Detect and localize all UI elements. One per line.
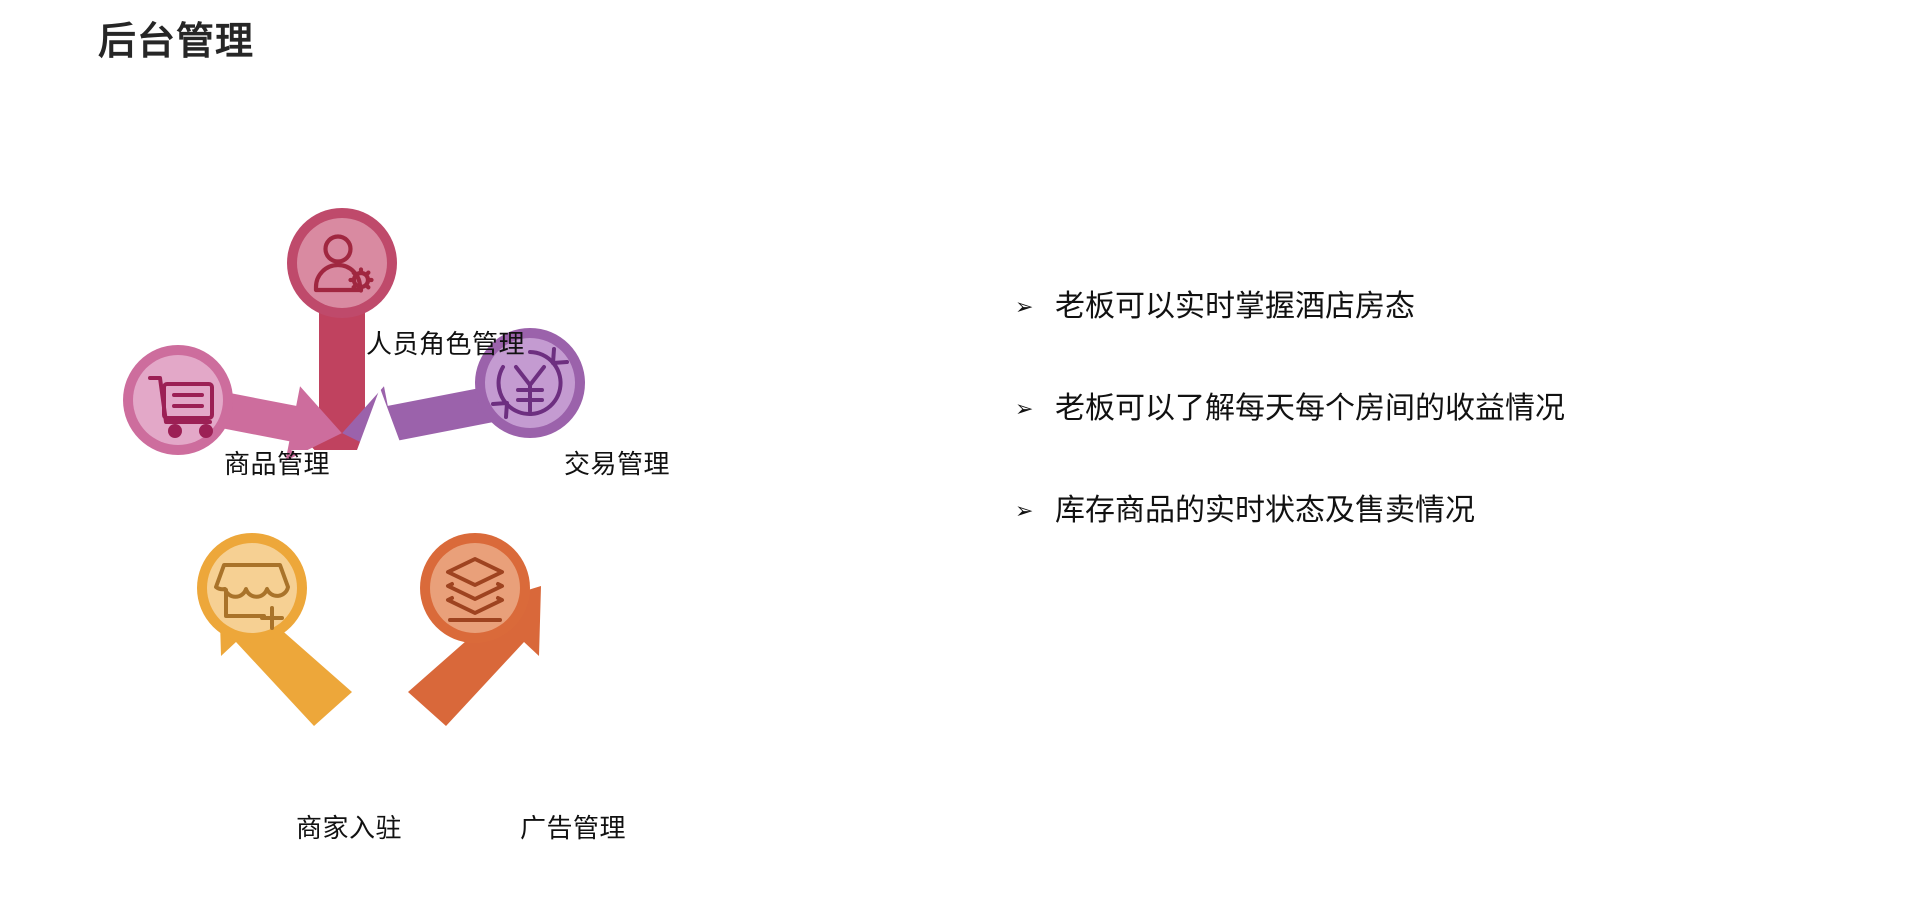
- node-people-role-management[interactable]: [287, 208, 397, 318]
- list-item: ➢ 老板可以实时掌握酒店房态: [1015, 287, 1775, 327]
- list-item: ➢ 库存商品的实时状态及售卖情况: [1015, 491, 1775, 531]
- page-title: 后台管理: [98, 10, 254, 65]
- bullet-text: 老板可以实时掌握酒店房态: [1055, 287, 1415, 327]
- bullet-text: 老板可以了解每天每个房间的收益情况: [1055, 389, 1565, 429]
- node-label-people-role-management: 人员角色管理: [366, 324, 525, 361]
- node-merchant-onboarding[interactable]: [197, 533, 307, 643]
- bullet-text: 库存商品的实时状态及售卖情况: [1055, 491, 1475, 531]
- arrow-bullet-icon: ➢: [1015, 491, 1055, 531]
- list-item: ➢ 老板可以了解每天每个房间的收益情况: [1015, 389, 1775, 429]
- arrow-bullet-icon: ➢: [1015, 389, 1055, 429]
- node-label-goods-management: 商品管理: [224, 444, 330, 481]
- node-ads-management[interactable]: [420, 533, 530, 643]
- slide-canvas: 后台管理: [0, 0, 1920, 900]
- arrow-bullet-icon: ➢: [1015, 287, 1055, 327]
- node-label-merchant-onboarding: 商家入驻: [296, 808, 402, 845]
- diagram-svg: [100, 150, 660, 730]
- star-hub-spoke-diagram: 人员角色管理 商品管理 交易管理 商家入驻 广告管理: [100, 150, 660, 730]
- bullet-list: ➢ 老板可以实时掌握酒店房态 ➢ 老板可以了解每天每个房间的收益情况 ➢ 库存商…: [1015, 287, 1775, 593]
- node-goods-management[interactable]: [123, 345, 233, 455]
- node-label-trade-management: 交易管理: [564, 444, 670, 481]
- node-label-ads-management: 广告管理: [520, 808, 626, 845]
